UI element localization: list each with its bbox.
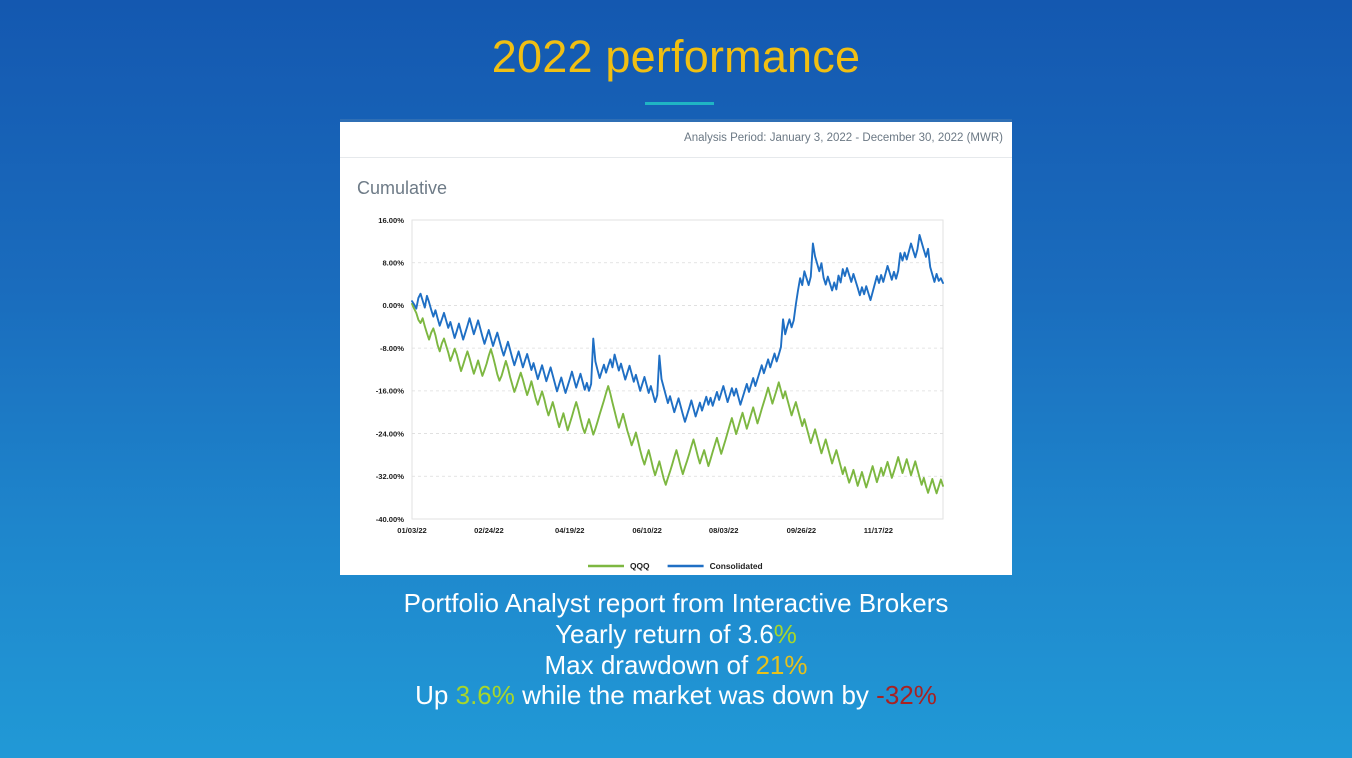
x-axis-tick-label: 08/03/22 (709, 526, 739, 535)
x-axis-tick-label: 06/10/22 (632, 526, 662, 535)
caption-block: Portfolio Analyst report from Interactiv… (0, 588, 1352, 711)
x-axis-tick-label: 01/03/22 (397, 526, 427, 535)
x-axis-tick-label: 11/17/22 (864, 526, 893, 535)
caption-line-4-middle: while the market was down by (515, 680, 876, 710)
caption-line-3-text: Max drawdown of (544, 650, 755, 680)
caption-line-2-text: Yearly return of 3.6 (555, 619, 774, 649)
y-axis-tick-label: 0.00% (382, 301, 404, 310)
caption-line-4-return-value: 3.6% (456, 680, 515, 710)
x-axis-tick-label: 09/26/22 (787, 526, 817, 535)
caption-line-1: Portfolio Analyst report from Interactiv… (0, 588, 1352, 619)
caption-line-2: Yearly return of 3.6% (0, 619, 1352, 650)
y-axis-tick-label: -16.00% (376, 387, 405, 396)
cumulative-performance-chart: 16.00%8.00%0.00%-8.00%-16.00%-24.00%-32.… (340, 214, 1012, 578)
portfolio-report-panel: Analysis Period: January 3, 2022 - Decem… (340, 119, 1012, 575)
caption-line-4-prefix: Up (415, 680, 455, 710)
page-title: 2022 performance (0, 28, 1352, 86)
y-axis-tick-label: -24.00% (376, 429, 405, 438)
title-underline-accent (645, 102, 714, 105)
report-panel-header: Analysis Period: January 3, 2022 - Decem… (340, 122, 1012, 158)
y-axis-tick-label: -8.00% (380, 344, 404, 353)
caption-line-2-percent: % (774, 619, 797, 649)
caption-line-3: Max drawdown of 21% (0, 650, 1352, 681)
chart-svg-canvas: 16.00%8.00%0.00%-8.00%-16.00%-24.00%-32.… (340, 214, 1012, 578)
analysis-period-label: Analysis Period: January 3, 2022 - Decem… (684, 132, 1003, 144)
caption-line-4-market-value: -32% (876, 680, 937, 710)
x-axis-tick-label: 04/19/22 (555, 526, 585, 535)
legend-label-qqq: QQQ (630, 561, 650, 571)
y-axis-tick-label: -32.00% (376, 472, 405, 481)
chart-subtitle: Cumulative (357, 178, 447, 199)
x-axis-tick-label: 02/24/22 (474, 526, 504, 535)
y-axis-tick-label: 16.00% (378, 216, 404, 225)
slide-root: 2022 performance Analysis Period: Januar… (0, 0, 1352, 758)
caption-line-3-value: 21% (755, 650, 807, 680)
y-axis-tick-label: 8.00% (382, 259, 404, 268)
y-axis-tick-label: -40.00% (376, 515, 405, 524)
legend-label-consolidated: Consolidated (710, 561, 763, 571)
caption-line-4: Up 3.6% while the market was down by -32… (0, 680, 1352, 711)
